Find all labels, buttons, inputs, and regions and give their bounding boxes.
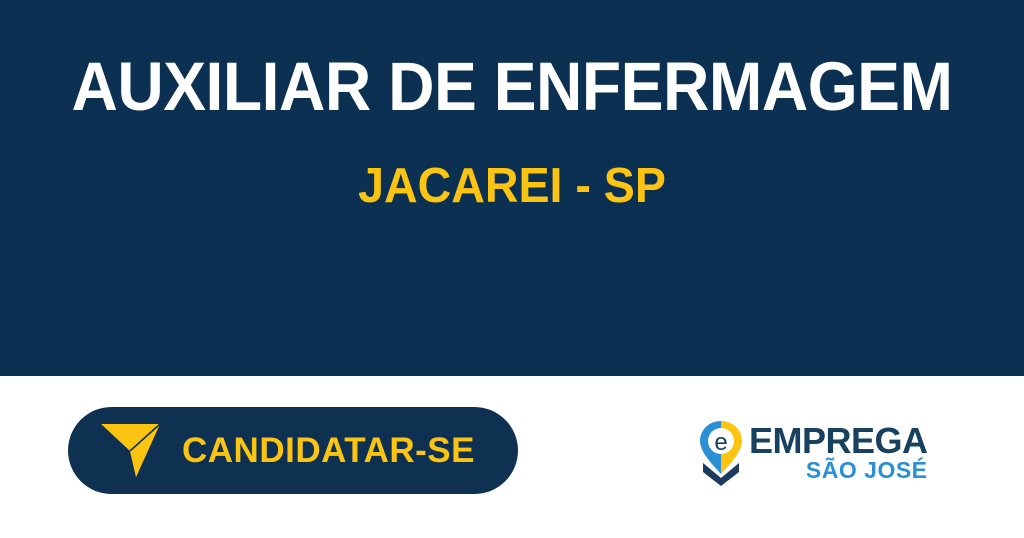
- brand-logo[interactable]: e EMPREGA SÃO JOSÉ: [698, 420, 898, 490]
- job-title: AUXILIAR DE ENFERMAGEM: [36, 52, 988, 122]
- brand-name-secondary: SÃO JOSÉ: [806, 458, 928, 482]
- apply-button[interactable]: CANDIDATAR-SE: [68, 407, 518, 494]
- send-icon: [100, 421, 162, 481]
- brand-name-primary: EMPREGA: [749, 423, 928, 459]
- job-posting-card: AUXILIAR DE ENFERMAGEM JACAREI - SP CAND…: [0, 0, 1024, 538]
- map-pin-icon: e: [698, 420, 744, 486]
- job-location: JACAREI - SP: [26, 160, 999, 212]
- pin-letter: e: [714, 429, 727, 456]
- apply-button-label: CANDIDATAR-SE: [182, 433, 475, 468]
- brand-wordmark: EMPREGA SÃO JOSÉ: [749, 420, 928, 482]
- hero-banner: AUXILIAR DE ENFERMAGEM JACAREI - SP: [0, 0, 1024, 376]
